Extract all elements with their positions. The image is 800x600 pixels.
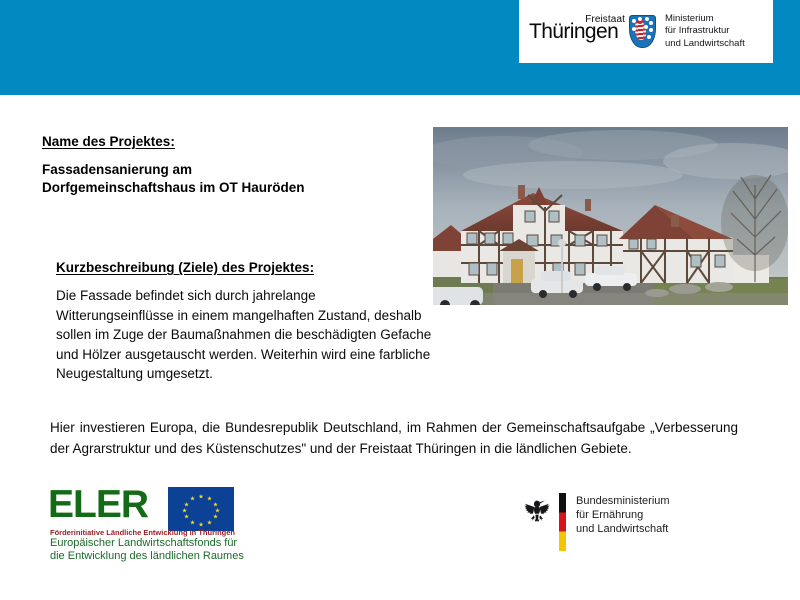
eler-subtitle-green-line-1: Europäischer Landwirtschaftsfonds für <box>50 537 244 550</box>
shield-star <box>645 17 649 21</box>
eu-star <box>184 514 189 519</box>
eler-subtitle-red: Förderinitiative Ländliche Entwicklung i… <box>50 528 235 537</box>
slide-content: Name des Projektes: Fassadensanierung am… <box>0 95 800 600</box>
heraldic-lion-shape <box>634 20 647 40</box>
eler-subtitle-green-line-2: die Entwicklung des ländlichen Raumes <box>50 550 244 563</box>
eu-star <box>190 496 195 501</box>
ministry-line-2: für Infrastruktur <box>665 25 745 38</box>
ministry-line-1: Ministerium <box>665 13 745 26</box>
eler-subtitle-green: Europäischer Landwirtschaftsfonds für di… <box>50 537 244 563</box>
top-banner: Freistaat Thüringen Ministerium für Infr… <box>0 0 800 95</box>
short-description-text: Die Fassade befindet sich durch jahrelan… <box>56 286 436 384</box>
shield-star <box>649 28 653 32</box>
eler-logo: ELER Förderinitiative Ländliche Entwickl… <box>48 487 234 553</box>
german-flag-bar-icon <box>559 493 566 551</box>
eu-star <box>184 502 189 507</box>
bmel-line-1: Bundesministerium <box>576 494 670 508</box>
eu-star <box>213 502 218 507</box>
bmel-name: Bundesministerium für Ernährung und Land… <box>576 494 670 536</box>
eu-star <box>199 522 204 527</box>
eu-star <box>213 514 218 519</box>
project-title: Fassadensanierung amDorfgemeinschaftshau… <box>42 161 422 197</box>
shield-star <box>638 17 642 21</box>
project-photo <box>433 127 788 305</box>
eu-star <box>182 508 187 513</box>
eu-star <box>215 508 220 513</box>
ministry-name: Ministerium für Infrastruktur und Landwi… <box>665 13 745 51</box>
bmel-line-3: und Landwirtschaft <box>576 522 670 536</box>
thuringia-coat-of-arms-icon <box>629 15 656 48</box>
short-description-label: Kurzbeschreibung (Ziele) des Projektes: <box>56 260 314 275</box>
shield-star <box>649 21 653 25</box>
eu-flag-icon <box>168 487 234 531</box>
eu-star <box>207 520 212 525</box>
thueringen-logo: Freistaat Thüringen Ministerium für Infr… <box>529 13 745 51</box>
bmel-logo: Bundesministerium für Ernährung und Land… <box>523 493 708 555</box>
thueringen-label: Thüringen <box>529 21 618 42</box>
federal-eagle-icon <box>523 495 551 525</box>
funding-statement: Hier investieren Europa, die Bundesrepub… <box>50 417 738 459</box>
project-name-label: Name des Projektes: <box>42 134 175 149</box>
eu-star <box>199 494 204 499</box>
ministry-line-3: und Landwirtschaft <box>665 38 745 51</box>
eu-star <box>207 496 212 501</box>
eu-star <box>190 520 195 525</box>
thueringen-logo-box: Freistaat Thüringen Ministerium für Infr… <box>519 0 773 63</box>
eler-wordmark: ELER <box>48 485 148 525</box>
shield-star <box>647 35 651 39</box>
shield-star <box>632 27 636 31</box>
shield-star <box>644 25 648 29</box>
bmel-line-2: für Ernährung <box>576 508 670 522</box>
thueringen-wordmark: Freistaat Thüringen <box>529 13 625 51</box>
shield-star <box>632 19 636 23</box>
